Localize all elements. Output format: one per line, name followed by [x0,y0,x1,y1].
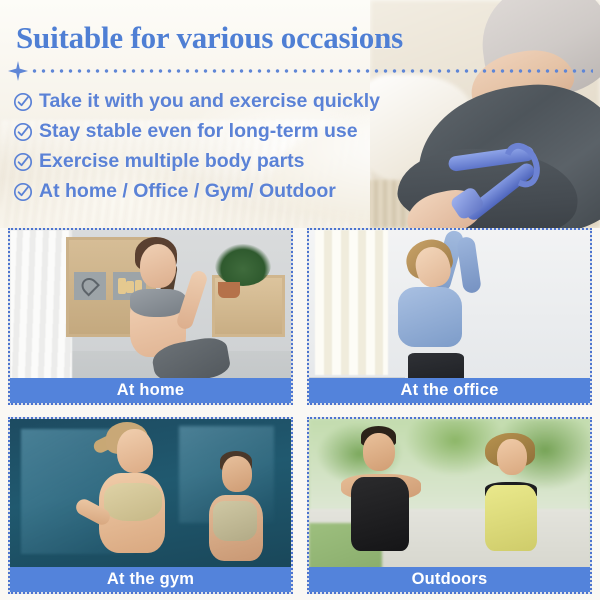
feature-label: Exercise multiple body parts [39,152,305,172]
scene-person [388,233,517,399]
use-case-card-at-the-office[interactable]: At the office [307,228,592,405]
feature-list: Take it with you and exercise quickly St… [12,88,442,208]
feature-label: At home / Office / Gym/ Outdoor [39,182,336,202]
dotted-divider [30,69,593,73]
feature-item: Exercise multiple body parts [12,148,442,175]
scene-curtain [10,230,72,382]
card-caption: At the office [309,378,590,403]
feature-item: At home / Office / Gym/ Outdoor [12,178,442,205]
use-case-card-outdoors[interactable]: Outdoors [307,417,592,594]
circled-check-icon [12,121,34,143]
circled-check-icon [12,151,34,173]
card-caption: At the gym [10,567,291,592]
use-case-card-at-home[interactable]: At home [8,228,293,405]
feature-label: Stay stable even for long-term use [39,122,358,142]
card-caption: Outdoors [309,567,590,592]
scene-person-female [466,436,567,588]
feature-label: Take it with you and exercise quickly [39,92,380,112]
circled-check-icon [12,91,34,113]
card-caption: At home [10,378,291,403]
scene-person-male [337,429,438,588]
scene-window-blinds [315,230,388,375]
circled-check-icon [12,181,34,203]
feature-item: Stay stable even for long-term use [12,118,442,145]
sparkle-star-icon [7,60,29,82]
feature-item: Take it with you and exercise quickly [12,88,442,115]
page-title: Suitable for various occasions [16,20,403,56]
use-case-card-at-the-gym[interactable]: At the gym [8,417,293,594]
divider-row [7,58,593,84]
use-case-grid: At home At the office [8,228,592,594]
